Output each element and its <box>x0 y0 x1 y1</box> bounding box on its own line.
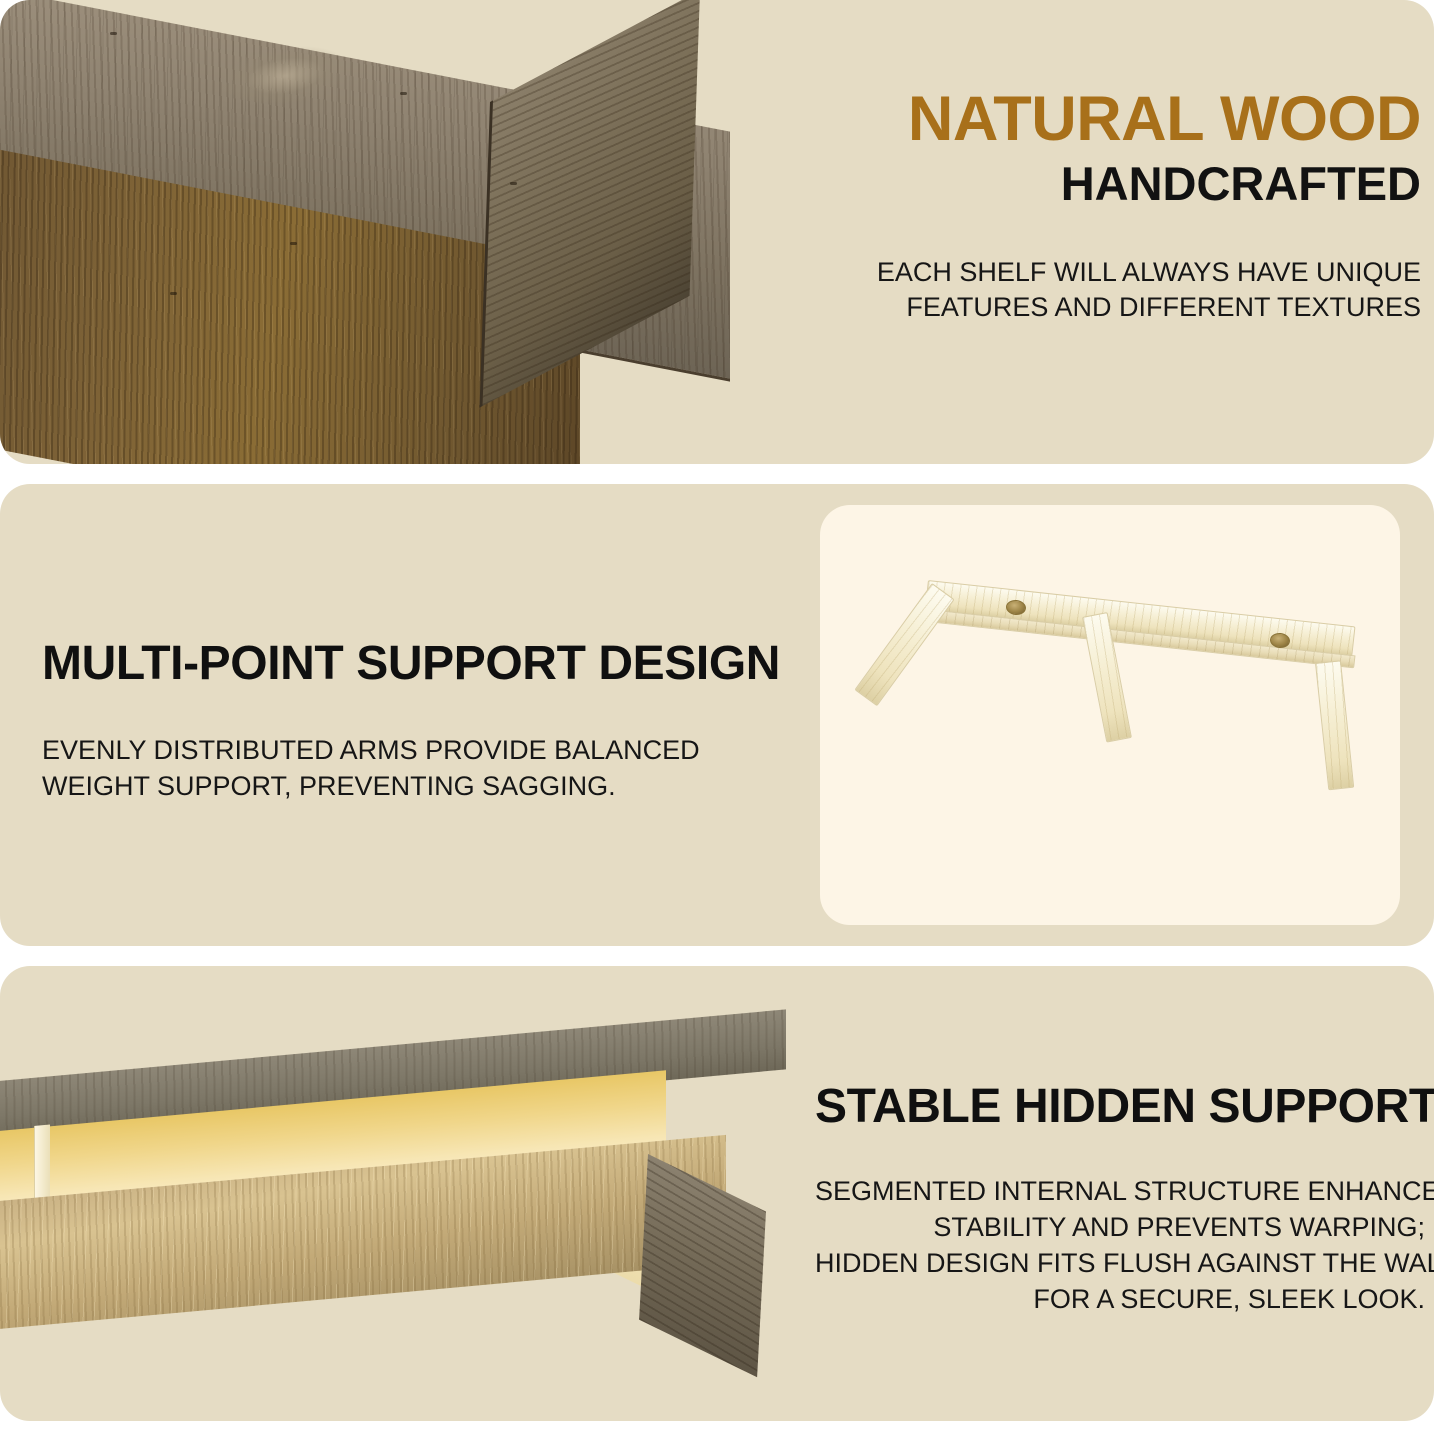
panel-1-body: EACH SHELF WILL ALWAYS HAVE UNIQUE FEATU… <box>821 255 1421 325</box>
body-line: SEGMENTED INTERNAL STRUCTURE ENHANCES <box>815 1174 1425 1210</box>
shelf-end-cap <box>639 1154 766 1377</box>
bracket-image-card <box>820 505 1400 925</box>
wood-fleck <box>170 292 177 295</box>
body-line: EVENLY DISTRIBUTED ARMS PROVIDE BALANCED <box>42 733 782 769</box>
panel-stable-hidden-support: STABLE HIDDEN SUPPORT SEGMENTED INTERNAL… <box>0 966 1434 1421</box>
rustic-wood-shelf-photo <box>0 0 790 442</box>
wooden-bracket-illustration <box>820 505 1400 925</box>
body-line: STABILITY AND PREVENTS WARPING; <box>815 1210 1425 1246</box>
body-line: WEIGHT SUPPORT, PREVENTING SAGGING. <box>42 769 782 805</box>
panel-3-body: SEGMENTED INTERNAL STRUCTURE ENHANCES ST… <box>815 1174 1425 1318</box>
infographic-page: NATURAL WOOD HANDCRAFTED EACH SHELF WILL… <box>0 0 1445 1433</box>
heading-multi-point-support: MULTI-POINT SUPPORT DESIGN <box>42 639 782 689</box>
body-line: HIDDEN DESIGN FITS FLUSH AGAINST THE WAL… <box>815 1246 1425 1282</box>
heading-stable-hidden-support: STABLE HIDDEN SUPPORT <box>815 1082 1425 1132</box>
wood-beam-illustration <box>0 0 790 442</box>
panel-2-body: EVENLY DISTRIBUTED ARMS PROVIDE BALANCED… <box>42 733 782 804</box>
panel-3-text-block: STABLE HIDDEN SUPPORT SEGMENTED INTERNAL… <box>815 1082 1425 1318</box>
headline-natural-wood: NATURAL WOOD <box>821 88 1421 151</box>
bracket-arm-right <box>1315 660 1354 790</box>
hollow-shelf-photo <box>0 1054 816 1384</box>
wood-fleck <box>110 32 117 35</box>
wood-fleck <box>400 92 407 95</box>
panel-1-text-block: NATURAL WOOD HANDCRAFTED EACH SHELF WILL… <box>821 88 1421 325</box>
body-line: FEATURES AND DIFFERENT TEXTURES <box>821 290 1421 325</box>
wood-fleck <box>510 182 517 185</box>
panel-multi-point-support: MULTI-POINT SUPPORT DESIGN EVENLY DISTRI… <box>0 484 1434 946</box>
body-line: EACH SHELF WILL ALWAYS HAVE UNIQUE <box>821 255 1421 290</box>
panel-natural-wood: NATURAL WOOD HANDCRAFTED EACH SHELF WILL… <box>0 0 1434 464</box>
wood-fleck <box>290 242 297 245</box>
body-line: FOR A SECURE, SLEEK LOOK. <box>815 1282 1425 1318</box>
shelf-cross-section-illustration <box>0 1054 816 1384</box>
bracket-arm-left <box>854 583 954 706</box>
headline-handcrafted: HANDCRAFTED <box>821 158 1421 211</box>
panel-2-text-block: MULTI-POINT SUPPORT DESIGN EVENLY DISTRI… <box>42 639 782 805</box>
